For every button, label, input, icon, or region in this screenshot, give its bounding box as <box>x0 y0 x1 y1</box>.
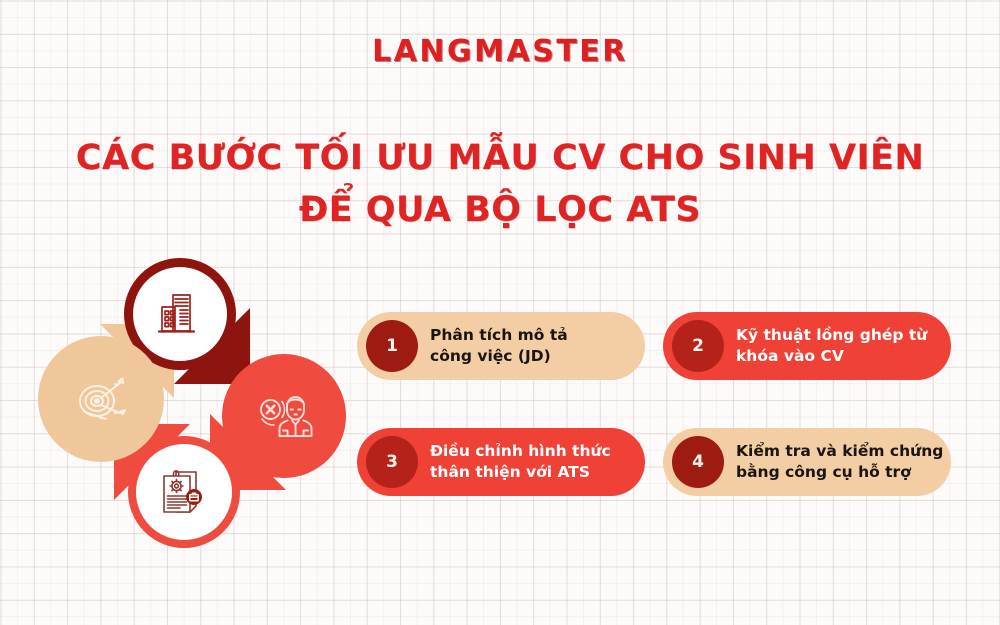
brand-logo-langmaster: LANGMASTER <box>0 34 1000 69</box>
step-number-badge: 2 <box>672 320 724 372</box>
resume-gear-briefcase-icon <box>128 436 240 548</box>
step-card-4[interactable]: 4 Kiểm tra và kiểm chứng bằng công cụ hỗ… <box>663 428 951 496</box>
rejected-candidate-icon <box>222 354 346 478</box>
step-label: Kỹ thuật lồng ghép từ khóa vào CV <box>736 325 927 367</box>
step-label: Điều chỉnh hình thức thân thiện với ATS <box>430 441 611 483</box>
pin-rejected-candidate <box>222 354 346 478</box>
step-label-line-1: Kiểm tra và kiểm chứng <box>736 441 943 462</box>
step-card-1[interactable]: 1 Phân tích mô tả công việc (JD) <box>357 312 645 380</box>
step-number-badge: 3 <box>366 436 418 488</box>
steps-list: 1 Phân tích mô tả công việc (JD) 2 Kỹ th… <box>357 312 957 508</box>
pin-resume-tools <box>128 436 240 548</box>
step-label-line-1: Kỹ thuật lồng ghép từ <box>736 325 927 346</box>
step-card-3[interactable]: 3 Điều chỉnh hình thức thân thiện với AT… <box>357 428 645 496</box>
icon-cluster <box>36 258 346 548</box>
step-label: Kiểm tra và kiểm chứng bằng công cụ hỗ t… <box>736 441 943 483</box>
step-label-line-2: bằng công cụ hỗ trợ <box>736 462 943 483</box>
page-title-line-1: CÁC BƯỚC TỐI ƯU MẪU CV CHO SINH VIÊN <box>0 132 1000 184</box>
page-title-line-2: ĐỂ QUA BỘ LỌC ATS <box>0 184 1000 236</box>
page-title: CÁC BƯỚC TỐI ƯU MẪU CV CHO SINH VIÊN ĐỂ … <box>0 132 1000 236</box>
step-card-2[interactable]: 2 Kỹ thuật lồng ghép từ khóa vào CV <box>663 312 951 380</box>
step-label-line-2: khóa vào CV <box>736 346 927 367</box>
step-label-line-2: công việc (JD) <box>430 346 568 367</box>
step-number-badge: 4 <box>672 436 724 488</box>
infographic-canvas: LANGMASTER CÁC BƯỚC TỐI ƯU MẪU CV CHO SI… <box>0 0 1000 625</box>
step-label-line-2: thân thiện với ATS <box>430 462 611 483</box>
step-label-line-1: Phân tích mô tả <box>430 325 568 346</box>
step-number-badge: 1 <box>366 320 418 372</box>
step-label-line-1: Điều chỉnh hình thức <box>430 441 611 462</box>
step-label: Phân tích mô tả công việc (JD) <box>430 325 568 367</box>
